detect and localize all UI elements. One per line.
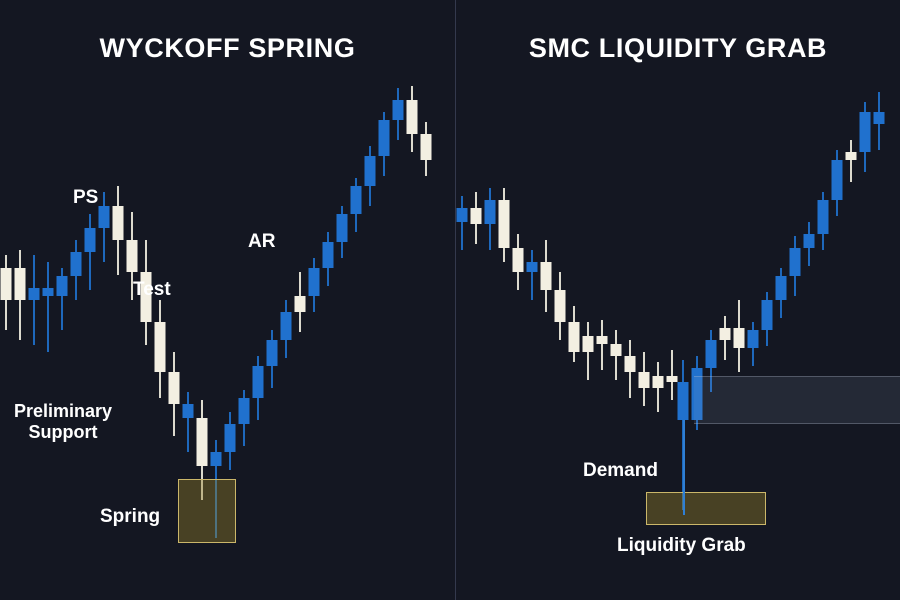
spring-zone-box	[178, 479, 236, 543]
candle-body	[611, 344, 622, 356]
annotation-liquidity-grab: Liquidity Grab	[617, 535, 746, 557]
candle-body	[323, 242, 334, 268]
candle-body	[790, 248, 801, 276]
candle-body	[818, 200, 829, 234]
candle-body	[211, 452, 222, 466]
candle-body	[832, 160, 843, 200]
candle-body	[678, 382, 689, 420]
candle-body	[1, 268, 12, 300]
candle-body	[653, 376, 664, 388]
candle-body	[253, 366, 264, 398]
candle-body	[99, 206, 110, 228]
candle-body	[597, 336, 608, 344]
candle-body	[706, 340, 717, 368]
candle-wick	[461, 196, 463, 250]
annotation-ps: PS	[73, 187, 98, 209]
annotation-preliminary-support-line2: Support	[4, 422, 122, 443]
candle-wick	[671, 350, 673, 400]
candle-body	[407, 100, 418, 134]
candle-body	[85, 228, 96, 252]
annotation-demand: Demand	[583, 460, 658, 482]
candle-body	[197, 418, 208, 466]
candle-body	[351, 186, 362, 214]
candle-body	[337, 214, 348, 242]
candle-body	[667, 376, 678, 382]
candle-body	[625, 356, 636, 372]
annotation-ar: AR	[248, 231, 275, 253]
candle-body	[541, 262, 552, 290]
candle-body	[569, 322, 580, 352]
candle-body	[169, 372, 180, 404]
liquidity-grab-zone-box	[646, 492, 766, 525]
candle-body	[267, 340, 278, 366]
candle-body	[874, 112, 885, 124]
candle-body	[239, 398, 250, 424]
candle-wick	[47, 262, 49, 352]
annotation-test: Test	[133, 279, 171, 301]
candle-body	[71, 252, 82, 276]
candle-body	[762, 300, 773, 330]
candle-body	[527, 262, 538, 272]
candle-body	[485, 200, 496, 224]
left-panel-title: WYCKOFF SPRING	[0, 33, 455, 64]
candle-body	[15, 268, 26, 300]
annotation-spring: Spring	[100, 506, 160, 528]
candle-body	[393, 100, 404, 120]
candle-body	[29, 288, 40, 300]
candle-body	[860, 112, 871, 152]
candle-wick	[601, 320, 603, 370]
candle-body	[225, 424, 236, 452]
panel-divider	[455, 0, 456, 600]
candle-body	[499, 200, 510, 248]
candle-wick	[850, 140, 852, 182]
candle-body	[555, 290, 566, 322]
candle-body	[776, 276, 787, 300]
candle-body	[513, 248, 524, 272]
candle-body	[734, 328, 745, 348]
liquidity-sweep-line	[683, 420, 685, 515]
candle-wick	[187, 392, 189, 452]
comparison-chart-canvas: WYCKOFF SPRING SMC LIQUIDITY GRAB PS Tes…	[0, 0, 900, 600]
candle-body	[365, 156, 376, 186]
candle-body	[748, 330, 759, 348]
candle-body	[281, 312, 292, 340]
candle-body	[457, 208, 468, 222]
candle-body	[295, 296, 306, 312]
candle-body	[471, 208, 482, 224]
annotation-preliminary-support: Preliminary Support	[4, 401, 122, 443]
candle-body	[57, 276, 68, 296]
candle-body	[127, 240, 138, 272]
candle-body	[379, 120, 390, 156]
candle-body	[639, 372, 650, 388]
candle-body	[720, 328, 731, 340]
candle-body	[113, 206, 124, 240]
candle-body	[183, 404, 194, 418]
demand-zone-box	[694, 376, 900, 424]
candle-body	[309, 268, 320, 296]
right-panel-title: SMC LIQUIDITY GRAB	[456, 33, 900, 64]
candle-body	[43, 288, 54, 296]
candle-body	[421, 134, 432, 160]
candle-body	[583, 336, 594, 352]
candle-wick	[531, 250, 533, 300]
candle-body	[804, 234, 815, 248]
candle-body	[155, 322, 166, 372]
candle-body	[846, 152, 857, 160]
annotation-preliminary-support-line1: Preliminary	[4, 401, 122, 422]
